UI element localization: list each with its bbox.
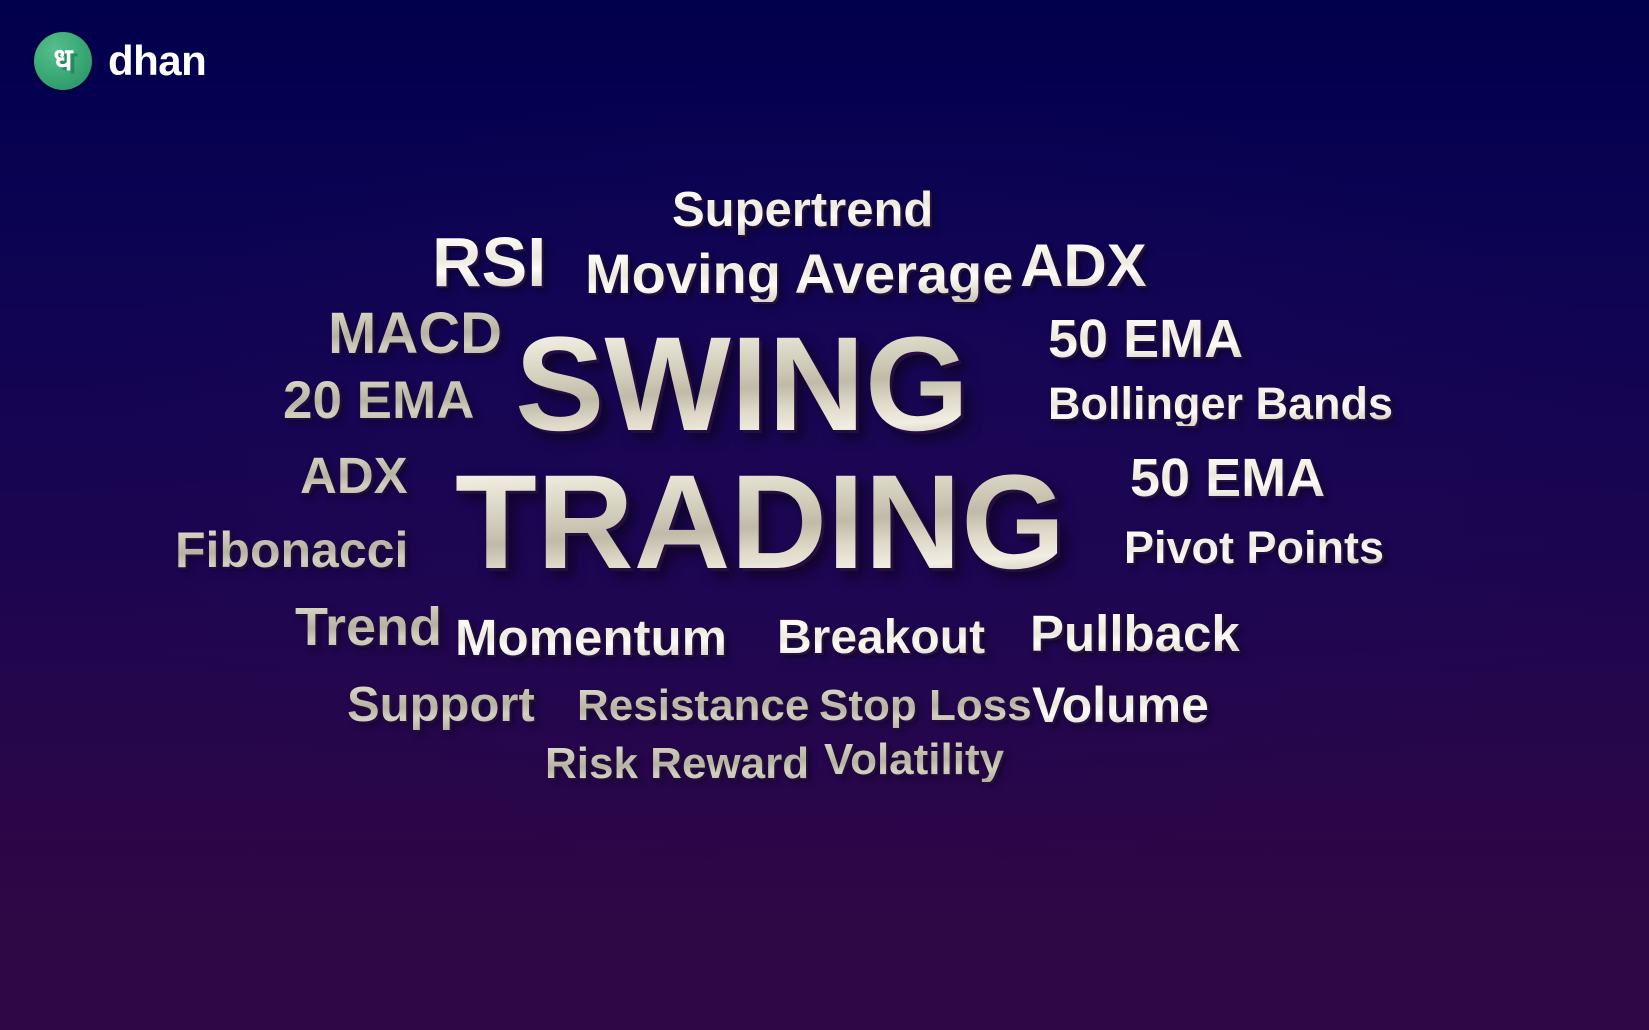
- cloud-word: Resistance: [577, 684, 809, 728]
- cloud-word: SWING: [515, 318, 969, 452]
- cloud-word: Support: [347, 681, 535, 730]
- cloud-word: TRADING: [455, 456, 1065, 590]
- cloud-word: Pivot Points: [1124, 525, 1384, 570]
- cloud-word: Risk Reward: [545, 742, 809, 786]
- cloud-word: Volume: [1032, 680, 1209, 730]
- cloud-word: Momentum: [455, 612, 727, 663]
- cloud-word: Breakout: [777, 614, 985, 662]
- cloud-word: ADX: [1020, 236, 1147, 296]
- cloud-word: ADX: [300, 450, 408, 501]
- cloud-word: Trend: [295, 600, 442, 654]
- dhan-devanagari-glyph: ध: [53, 45, 72, 76]
- cloud-word: Supertrend: [672, 186, 933, 235]
- cloud-word: RSI: [432, 227, 546, 297]
- dhan-brand-logo[interactable]: ध dhan: [34, 32, 206, 90]
- cloud-word: 50 EMA: [1130, 451, 1325, 505]
- cloud-word: 20 EMA: [283, 374, 474, 427]
- cloud-word: Stop Loss: [819, 684, 1032, 728]
- cloud-word: Fibonacci: [175, 525, 408, 575]
- dhan-wordmark: dhan: [108, 40, 206, 82]
- cloud-word: Pullback: [1030, 608, 1240, 659]
- cloud-word: MACD: [328, 305, 502, 363]
- cloud-word: Volatility: [824, 738, 1004, 782]
- word-cloud-slide: ध dhan SupertrendRSIMoving AverageADXMAC…: [0, 0, 1649, 1030]
- dhan-logo-icon: ध: [34, 32, 92, 90]
- word-cloud: SupertrendRSIMoving AverageADXMACD50 EMA…: [0, 0, 1649, 1030]
- cloud-word: Bollinger Bands: [1048, 381, 1393, 426]
- cloud-word: 50 EMA: [1048, 312, 1243, 366]
- cloud-word: Moving Average: [585, 246, 1013, 302]
